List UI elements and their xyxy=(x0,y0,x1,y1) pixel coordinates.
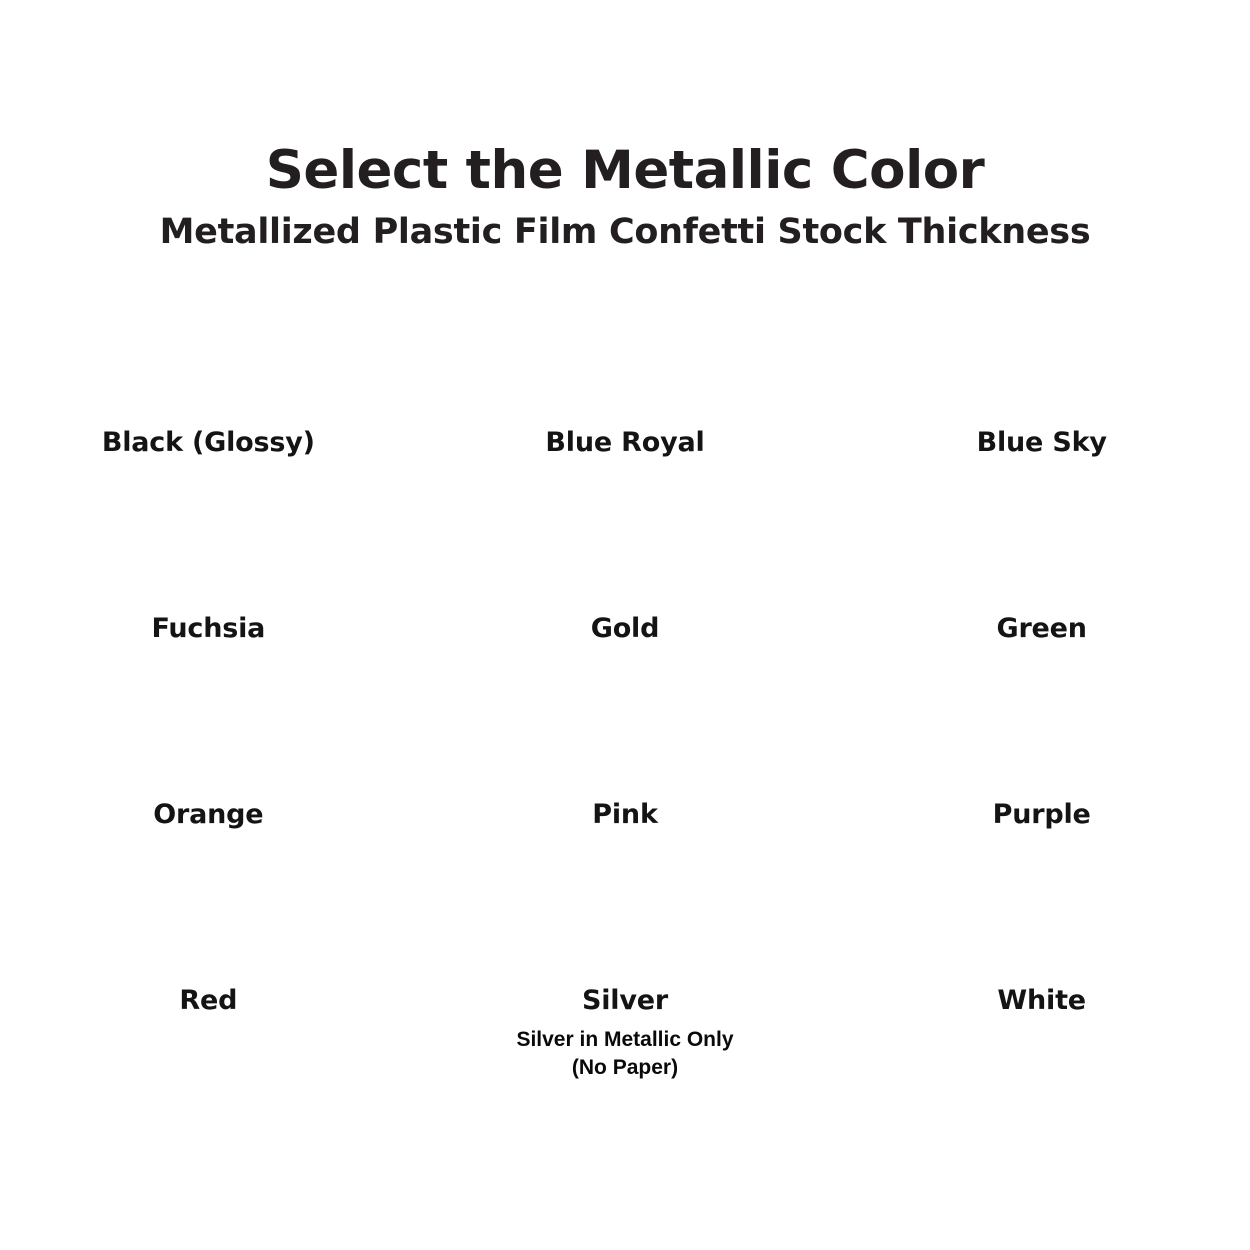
swatch-label: Red xyxy=(179,986,237,1016)
swatch-artwork-blue-royal xyxy=(449,318,801,410)
color-swatch-silver[interactable]: SilverSilver in Metallic Only(No Paper) xyxy=(417,876,834,1062)
swatch-note-line-1: Silver in Metallic Only xyxy=(516,1026,733,1054)
swatch-availability-note: Silver in Metallic Only(No Paper) xyxy=(516,1026,733,1082)
swatch-artwork-green xyxy=(866,504,1218,596)
july-4th-wordart-icon xyxy=(449,690,801,782)
swatch-label: Purple xyxy=(993,800,1091,830)
swatch-label: Pink xyxy=(592,800,657,830)
swatch-artwork-red xyxy=(32,876,384,968)
color-swatch-gold[interactable]: Gold xyxy=(417,504,834,690)
swatch-label: Orange xyxy=(153,800,263,830)
swatch-artwork-blue-sky xyxy=(866,318,1218,410)
july-4th-wordart-icon xyxy=(449,876,801,968)
july-4th-wordart-icon xyxy=(449,318,801,410)
swatch-note-line-2: (No Paper) xyxy=(516,1054,733,1082)
swatch-artwork-white xyxy=(866,876,1218,968)
swatch-artwork-pink xyxy=(449,690,801,782)
color-swatch-grid: Black (Glossy) xyxy=(0,318,1250,1062)
metallic-color-selector-page: Select the Metallic Color Metallized Pla… xyxy=(0,0,1250,1250)
july-4th-wordart-icon xyxy=(32,690,384,782)
swatch-label: Gold xyxy=(591,614,660,644)
swatch-label: Blue Sky xyxy=(977,428,1107,458)
color-swatch-white[interactable]: White xyxy=(833,876,1250,1062)
color-swatch-orange[interactable]: Orange xyxy=(0,690,417,876)
swatch-artwork-silver xyxy=(449,876,801,968)
july-4th-wordart-icon xyxy=(32,876,384,968)
color-swatch-black-glossy[interactable]: Black (Glossy) xyxy=(0,318,417,504)
color-swatch-green[interactable]: Green xyxy=(833,504,1250,690)
swatch-label: Blue Royal xyxy=(545,428,704,458)
swatch-artwork-orange xyxy=(32,690,384,782)
july-4th-wordart-icon xyxy=(32,318,384,410)
swatch-label: Silver xyxy=(582,986,668,1016)
swatch-label: Green xyxy=(996,614,1086,644)
page-header: Select the Metallic Color Metallized Pla… xyxy=(0,140,1250,256)
color-swatch-purple[interactable]: Purple xyxy=(833,690,1250,876)
color-swatch-blue-sky[interactable]: Blue Sky xyxy=(833,318,1250,504)
july-4th-wordart-icon xyxy=(866,504,1218,596)
color-swatch-fuchsia[interactable]: Fuchsia xyxy=(0,504,417,690)
july-4th-wordart-icon xyxy=(866,876,1218,968)
color-swatch-red[interactable]: Red xyxy=(0,876,417,1062)
july-4th-wordart-icon xyxy=(32,504,384,596)
swatch-artwork-gold xyxy=(449,504,801,596)
color-swatch-blue-royal[interactable]: Blue Royal xyxy=(417,318,834,504)
swatch-artwork-purple xyxy=(866,690,1218,782)
july-4th-wordart-icon xyxy=(866,690,1218,782)
july-4th-wordart-icon xyxy=(866,318,1218,410)
page-title: Select the Metallic Color xyxy=(0,140,1250,202)
swatch-label: Fuchsia xyxy=(151,614,265,644)
page-subtitle: Metallized Plastic Film Confetti Stock T… xyxy=(0,208,1250,256)
swatch-artwork-black-glossy xyxy=(32,318,384,410)
july-4th-wordart-icon xyxy=(449,504,801,596)
color-swatch-pink[interactable]: Pink xyxy=(417,690,834,876)
swatch-label: Black (Glossy) xyxy=(102,428,315,458)
swatch-label: White xyxy=(997,986,1085,1016)
swatch-artwork-fuchsia xyxy=(32,504,384,596)
